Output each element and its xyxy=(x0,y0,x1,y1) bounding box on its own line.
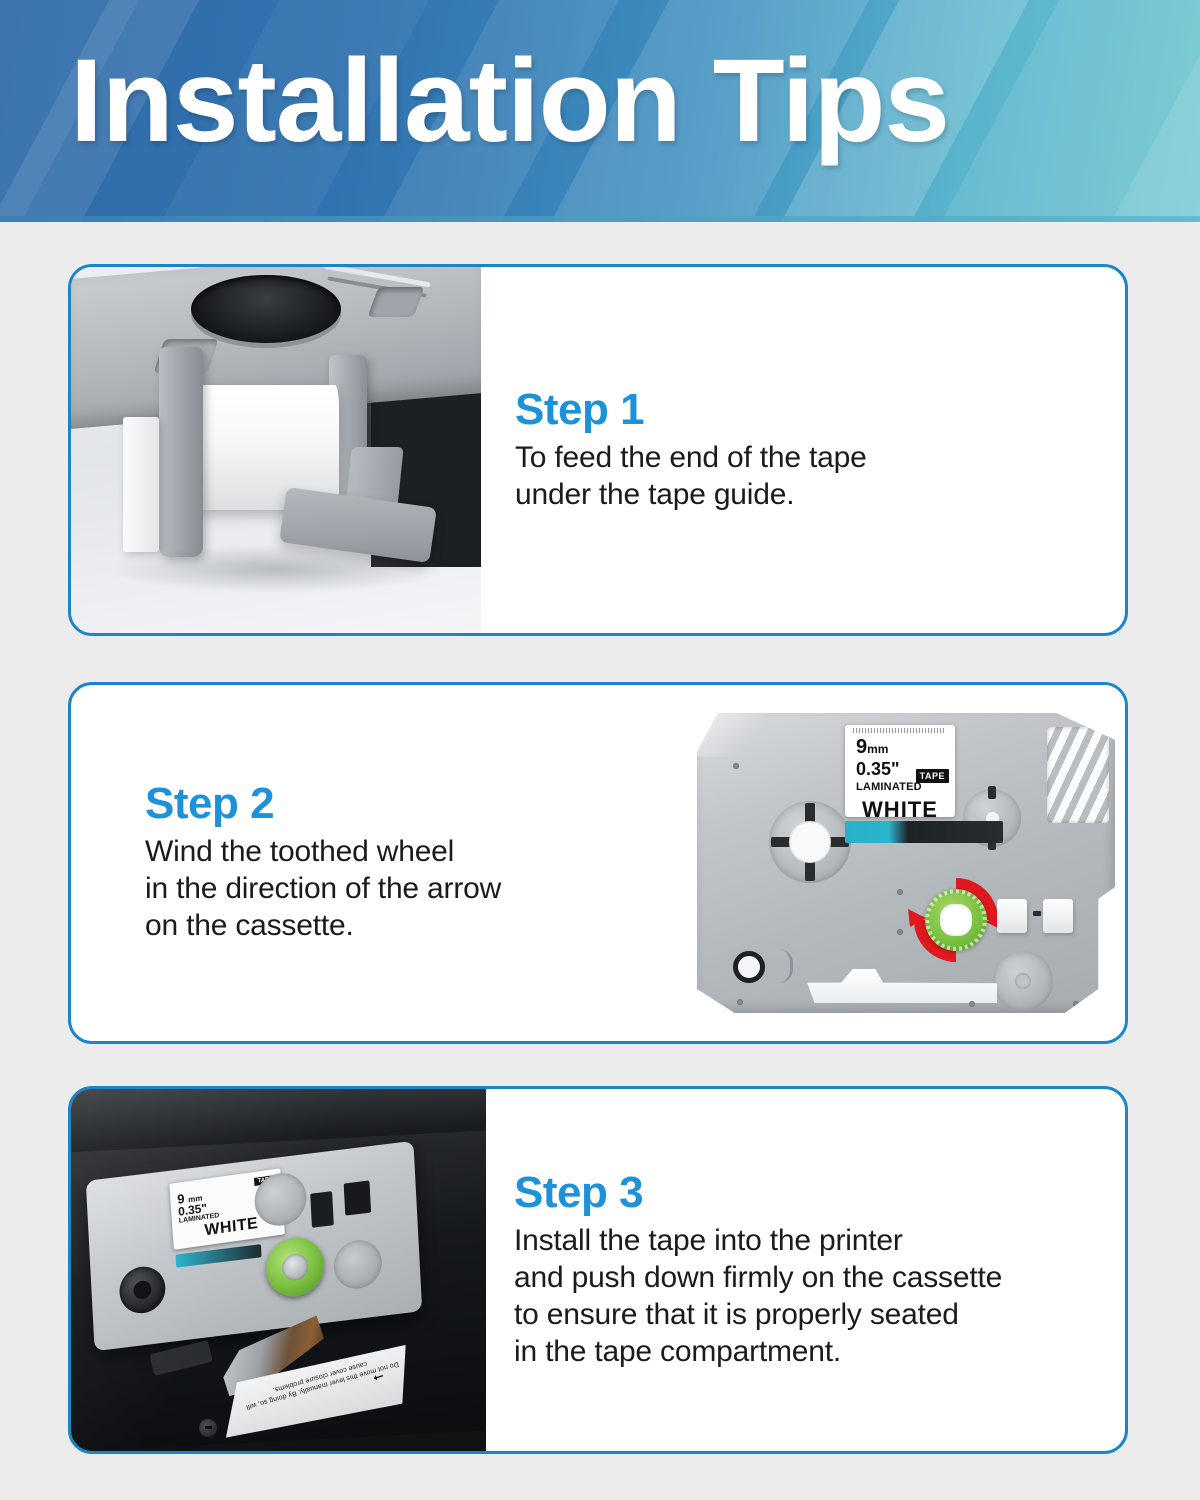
label-color: WHITE xyxy=(845,799,955,821)
cassette-label: 9mm 0.35" LAMINATED WHITE TAPE xyxy=(845,725,955,817)
step-1-body: To feed the end of the tape under the ta… xyxy=(515,439,1125,513)
step-2-body: Wind the toothed wheel in the direction … xyxy=(145,833,685,945)
page-title: Installation Tips xyxy=(70,42,949,160)
step-3-body: Install the tape into the printer and pu… xyxy=(514,1222,1125,1371)
step-card-3: 9 mm 0.35" LAMINATED WHITE TAPE Do not m… xyxy=(68,1086,1128,1454)
banner-stripe xyxy=(995,0,1200,222)
label-size-mm: 9 xyxy=(856,736,867,758)
step-1-text: Step 1 To feed the end of the tape under… xyxy=(481,267,1125,633)
tape-strip xyxy=(845,821,1003,843)
tape-cassette: 9mm 0.35" LAMINATED WHITE TAPE xyxy=(697,713,1115,1013)
step-3-image: 9 mm 0.35" LAMINATED WHITE TAPE Do not m… xyxy=(71,1089,486,1451)
label-tape-badge: TAPE xyxy=(916,769,949,783)
printer-screw xyxy=(199,1419,217,1437)
cassette-fins xyxy=(1047,727,1109,823)
installed-spool xyxy=(118,1264,166,1316)
cassette-cutter-slot xyxy=(807,969,997,1003)
step-2-title: Step 2 xyxy=(145,781,685,827)
tape-spool-left xyxy=(769,801,851,883)
step-1-title: Step 1 xyxy=(515,387,1125,433)
page-header-banner: Installation Tips xyxy=(0,0,1200,222)
label-laminated: LAMINATED xyxy=(845,782,955,793)
cassette-ring-bottom-left xyxy=(733,951,765,983)
tape-end-under-guide xyxy=(123,417,159,552)
step-card-2: Step 2 Wind the toothed wheel in the dir… xyxy=(68,682,1128,1044)
label-size-inch: 0.35" xyxy=(856,760,900,778)
barcode-icon xyxy=(853,728,945,733)
label-size-unit: mm xyxy=(867,742,888,756)
tape-spool-bottom-right xyxy=(993,951,1053,1011)
step-1-image xyxy=(71,267,481,633)
installed-toothed-wheel xyxy=(265,1235,326,1300)
step-2-text: Step 2 Wind the toothed wheel in the dir… xyxy=(71,685,685,1041)
step-card-1: Step 1 To feed the end of the tape under… xyxy=(68,264,1128,636)
step-3-title: Step 3 xyxy=(514,1170,1125,1216)
step-2-image: 9mm 0.35" LAMINATED WHITE TAPE xyxy=(685,685,1125,1041)
step-3-text: Step 3 Install the tape into the printer… xyxy=(486,1089,1125,1451)
cassette-center-hole-icon xyxy=(191,275,341,343)
toothed-wheel xyxy=(925,889,987,951)
banner-bottom-edge xyxy=(0,216,1200,222)
